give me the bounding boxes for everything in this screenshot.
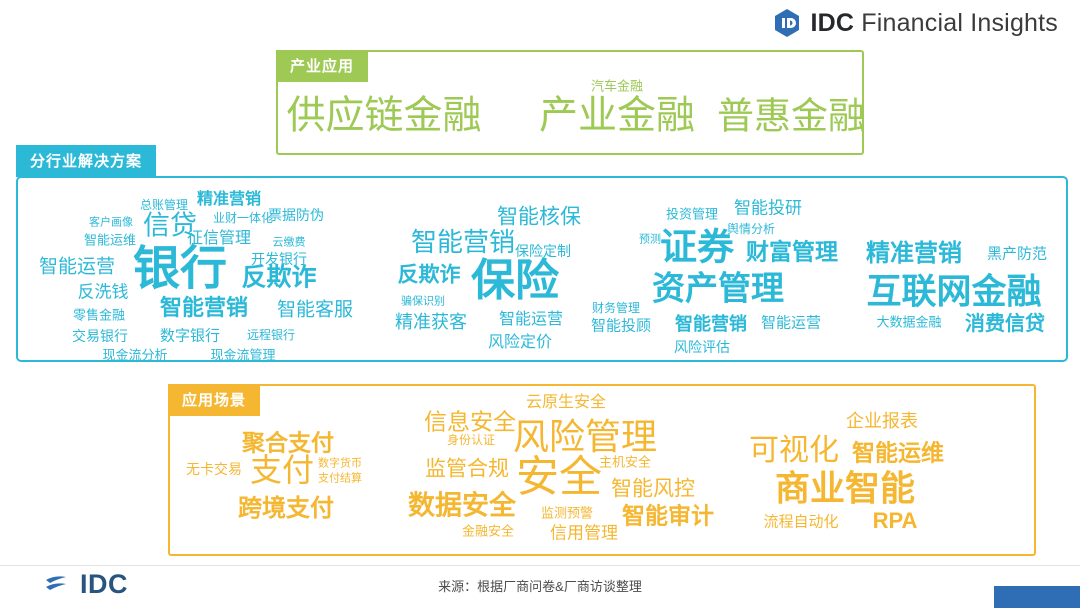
wordcloud-term: 信息安全 — [424, 411, 516, 434]
wordcloud-term: 零售金融 — [73, 309, 125, 322]
brand-name-rest: Financial Insights — [854, 9, 1058, 37]
footer-logo-text: IDC — [80, 569, 128, 600]
brand-name: IDC Financial Insights — [810, 9, 1058, 38]
wordcloud-term: 预测 — [639, 235, 661, 246]
wordcloud-term: 精准营销 — [866, 242, 962, 266]
wordcloud-term: 智能运维 — [852, 442, 944, 465]
wordcloud-term: 财务管理 — [592, 302, 640, 314]
wordcloud-term: 风险评估 — [674, 340, 730, 354]
wordcloud-term: 数字货币 — [318, 459, 362, 470]
wordcloud-term: 跨境支付 — [238, 497, 334, 521]
wordcloud-term: 票据防伪 — [268, 208, 324, 222]
wordcloud-term: 流程自动化 — [763, 515, 838, 530]
wordcloud-term: 资产管理 — [652, 272, 784, 305]
wordcloud-term: 智能核保 — [497, 207, 581, 228]
wordcloud-term: 无卡交易 — [186, 462, 242, 476]
brand-name-bold: IDC — [810, 9, 854, 37]
slide-root: IDC Financial Insights 产业应用 分行业解决方案 应用场景… — [0, 0, 1080, 608]
wordcloud-term: 大数据金融 — [876, 316, 941, 329]
wordcloud-term: 精准营销 — [197, 192, 261, 208]
wordcloud-term: 云原生安全 — [526, 395, 606, 411]
wordcloud-term: 黑产防范 — [987, 247, 1047, 262]
wordcloud-term: 数字银行 — [160, 329, 220, 344]
wordcloud-term: 信用管理 — [550, 525, 618, 542]
wordcloud-term: 智能营销 — [160, 297, 248, 319]
wordcloud-term: 精准获客 — [395, 313, 467, 331]
wordcloud-term: 智能审计 — [622, 505, 714, 528]
wordcloud-term: 反欺诈 — [241, 266, 316, 291]
idc-swoosh-icon — [44, 572, 74, 598]
wordcloud-term: 监测预警 — [541, 507, 593, 520]
wordcloud-term: 财富管理 — [746, 241, 838, 264]
wordcloud-term: 风险定价 — [488, 335, 552, 351]
wordcloud-term: 智能运维 — [84, 234, 136, 247]
wordcloud-term: 金融安全 — [462, 525, 514, 538]
wordcloud-term: 企业报表 — [846, 412, 918, 430]
wordcloud-term: 智能客服 — [277, 301, 353, 320]
wordcloud-term: 客户画像 — [89, 218, 133, 229]
wordcloud-term: 互联网金融 — [866, 275, 1041, 310]
wordcloud-term: 现金流管理 — [210, 349, 275, 362]
wordcloud-term: 产业金融 — [539, 97, 695, 136]
wordcloud-term: 安全 — [516, 457, 602, 500]
wordcloud-term: 交易银行 — [72, 329, 128, 343]
wordcloud-term: 可视化 — [749, 436, 839, 466]
wordcloud-term: 证券 — [660, 229, 734, 266]
wordcloud-term: 保险 — [471, 259, 559, 303]
wordcloud-term: 远程银行 — [247, 329, 295, 341]
wordcloud-term: 监管合规 — [425, 459, 509, 480]
wordcloud-term: RPA — [873, 510, 918, 532]
idc-hex-logo-icon — [773, 8, 801, 38]
wordcloud-term: 总账管理 — [140, 199, 188, 211]
wordcloud-term: 业财一体化 — [213, 212, 273, 224]
section-label-application-scenarios: 应用场景 — [168, 384, 260, 416]
wordcloud-term: 数据安全 — [408, 493, 516, 520]
wordcloud-term: 反欺诈 — [398, 265, 461, 286]
wordcloud-term: 支付结算 — [318, 474, 362, 485]
wordcloud-term: 智能营销 — [411, 229, 515, 255]
wordcloud-term: 银行 — [133, 245, 227, 292]
wordcloud-term: 云缴费 — [273, 238, 306, 249]
wordcloud-term: 智能营销 — [675, 315, 747, 333]
wordcloud-term: 支付 — [250, 454, 314, 486]
wordcloud-term: 骗保识别 — [401, 297, 445, 308]
section-label-industry-application: 产业应用 — [276, 50, 368, 82]
wordcloud-term: 智能投研 — [734, 200, 802, 217]
wordcloud-term: 主机安全 — [599, 456, 651, 469]
wordcloud-term: 现金流分析 — [102, 349, 167, 362]
wordcloud-term: 投资管理 — [666, 208, 718, 221]
wordcloud-term: 供应链金融 — [286, 97, 481, 136]
wordcloud-term: 智能运营 — [39, 258, 115, 277]
wordcloud-term: 舆情分析 — [727, 223, 775, 235]
wordcloud-term: 汽车金融 — [591, 80, 643, 93]
wordcloud-term: 智能运营 — [761, 316, 821, 331]
wordcloud-term: 智能运营 — [499, 312, 563, 328]
wordcloud-term: 身份认证 — [447, 434, 495, 446]
footer-logo: IDC — [44, 569, 128, 600]
wordcloud-term: 商业智能 — [775, 472, 915, 507]
section-label-industry-solutions: 分行业解决方案 — [16, 145, 156, 177]
wordcloud-term: 消费信贷 — [965, 314, 1045, 334]
wordcloud-term: 智能风控 — [611, 479, 695, 500]
brand-header: IDC Financial Insights — [773, 8, 1058, 38]
wordcloud-term: 风险管理 — [513, 419, 657, 455]
source-note: 来源：根据厂商问卷&厂商访谈整理 — [438, 576, 642, 595]
footer-accent-block — [994, 586, 1080, 608]
wordcloud-term: 智能投顾 — [591, 319, 651, 334]
wordcloud-term: 反洗钱 — [78, 284, 129, 301]
wordcloud-term: 普惠金融 — [717, 98, 865, 135]
